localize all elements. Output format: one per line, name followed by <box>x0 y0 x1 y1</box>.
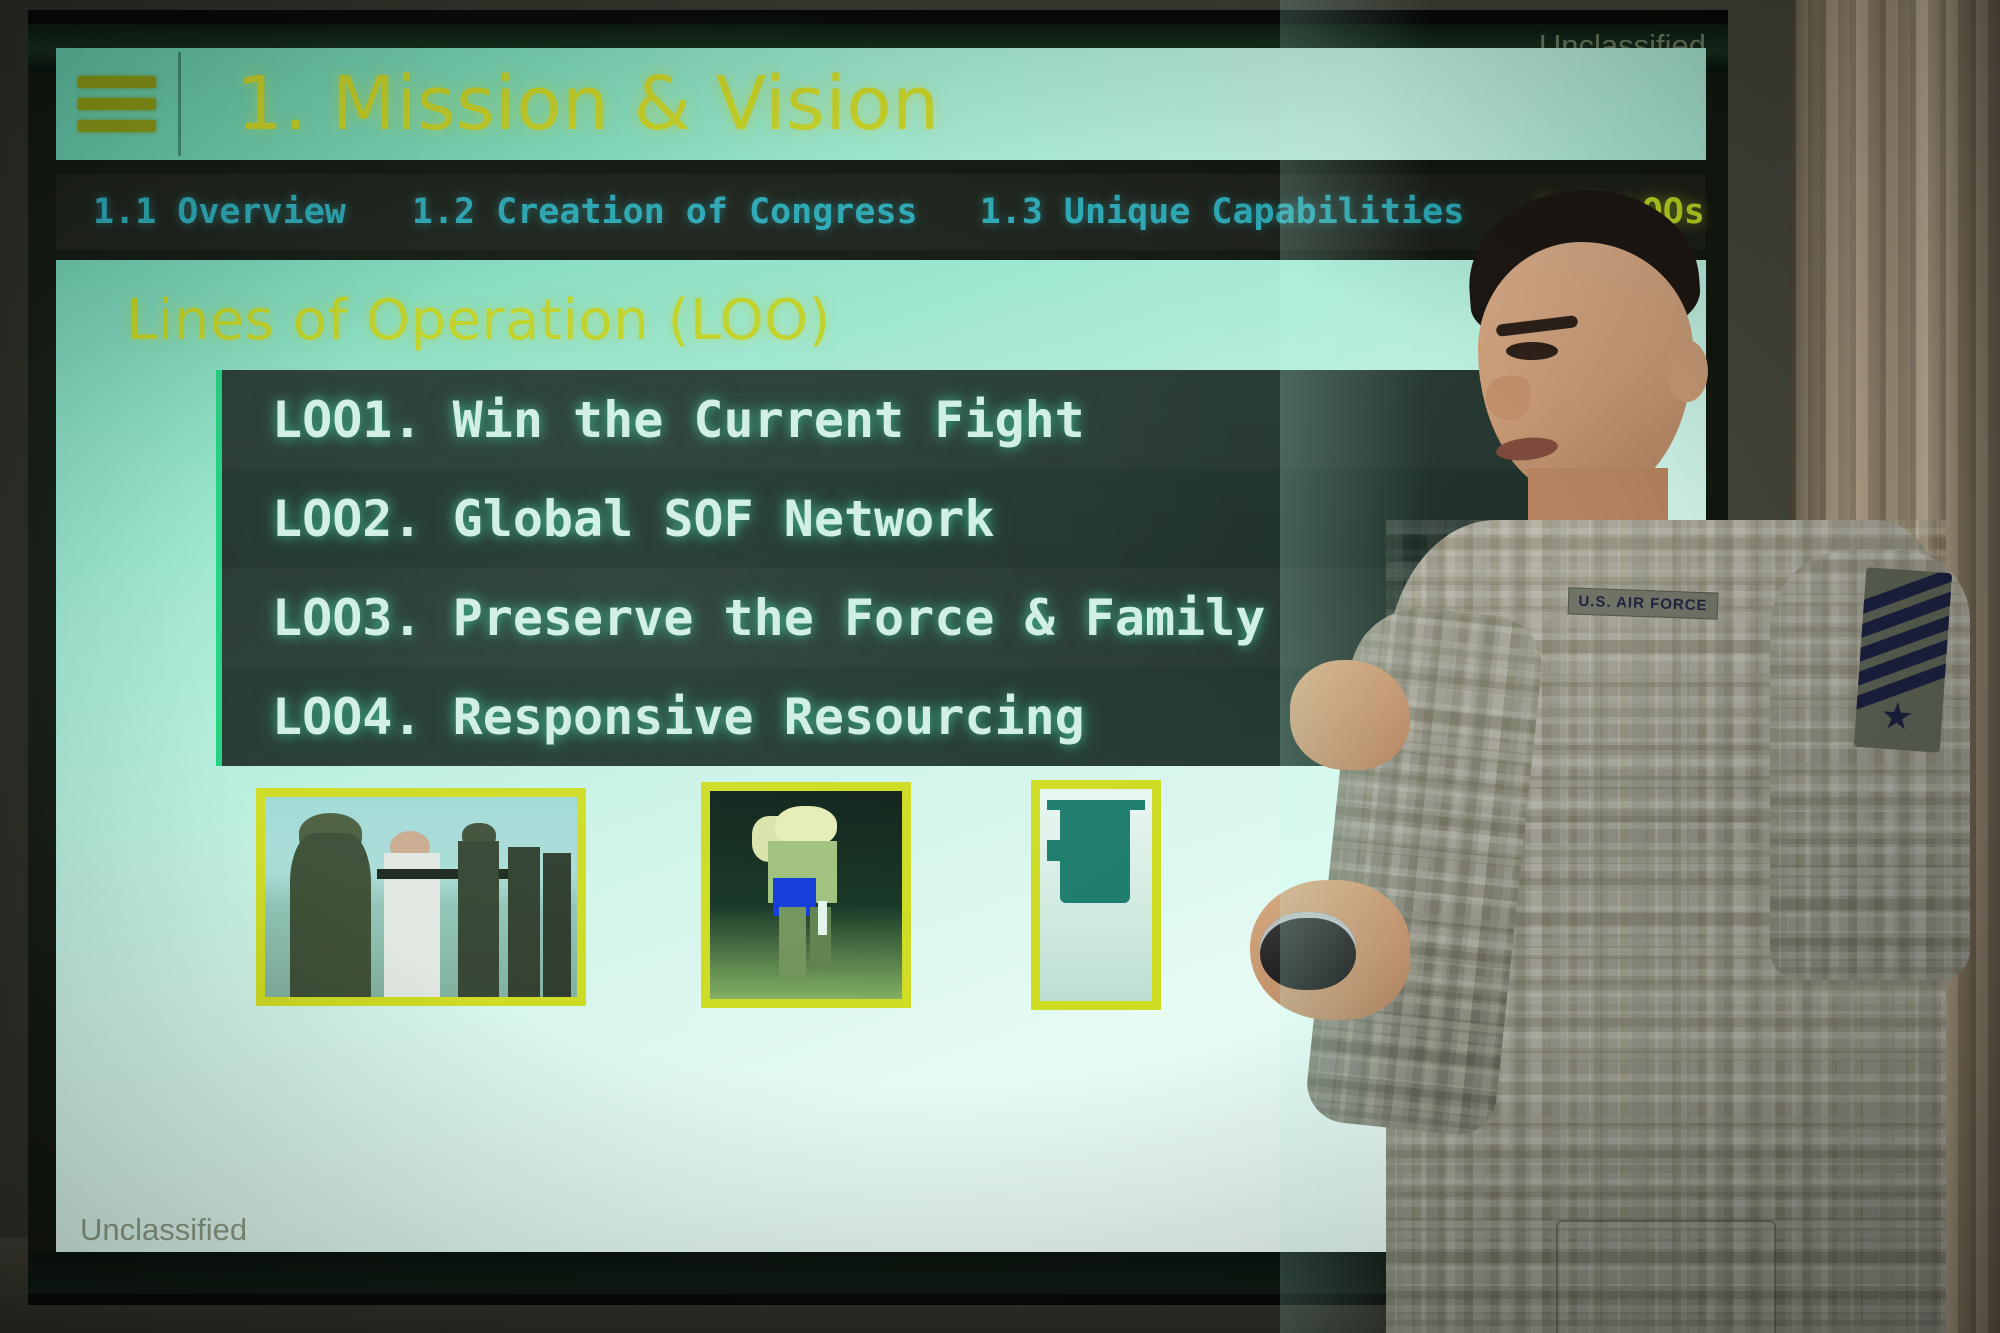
presenter: U.S. AIR FORCE <box>1300 190 2000 1333</box>
presenter-eye <box>1506 342 1558 360</box>
menu-button[interactable] <box>56 48 178 160</box>
helicopter-photo <box>1031 780 1161 1010</box>
nav-item-creation-of-congress[interactable]: 1.2 Creation of Congress <box>412 192 918 232</box>
presentation-clicker <box>1260 912 1356 990</box>
loo-item-3-label: LOO3. Preserve the Force & Family <box>272 589 1265 647</box>
classification-label-bottom: Unclassified <box>80 1212 247 1248</box>
slide-header: 1. Mission & Vision <box>56 48 1706 160</box>
section-title: Lines of Operation (LOO) <box>126 288 831 353</box>
exoskeleton-suit-photo <box>701 782 911 1008</box>
nav-item-overview[interactable]: 1.1 Overview <box>93 192 346 232</box>
hamburger-menu-icon[interactable] <box>78 76 156 132</box>
screenshot-scene: Unclassified 1. Mission & Vision 1.1 Ove… <box>0 0 2000 1333</box>
presenter-ear <box>1666 340 1708 402</box>
loo-item-4-label: LOO4. Responsive Resourcing <box>272 688 1085 746</box>
slide-title: 1. Mission & Vision <box>236 67 939 141</box>
presenter-left-hand <box>1290 660 1410 770</box>
uniform-tape-label: U.S. AIR FORCE <box>1578 593 1708 615</box>
soldiers-in-formation-photo <box>256 788 586 1006</box>
loo-item-1-label: LOO1. Win the Current Fight <box>272 391 1085 449</box>
header-divider <box>178 52 181 156</box>
presenter-nose <box>1486 376 1530 420</box>
rank-insignia-patch <box>1854 567 1952 753</box>
uniform-name-tape: U.S. AIR FORCE <box>1568 587 1719 619</box>
loo-item-2-label: LOO2. Global SOF Network <box>272 490 994 548</box>
